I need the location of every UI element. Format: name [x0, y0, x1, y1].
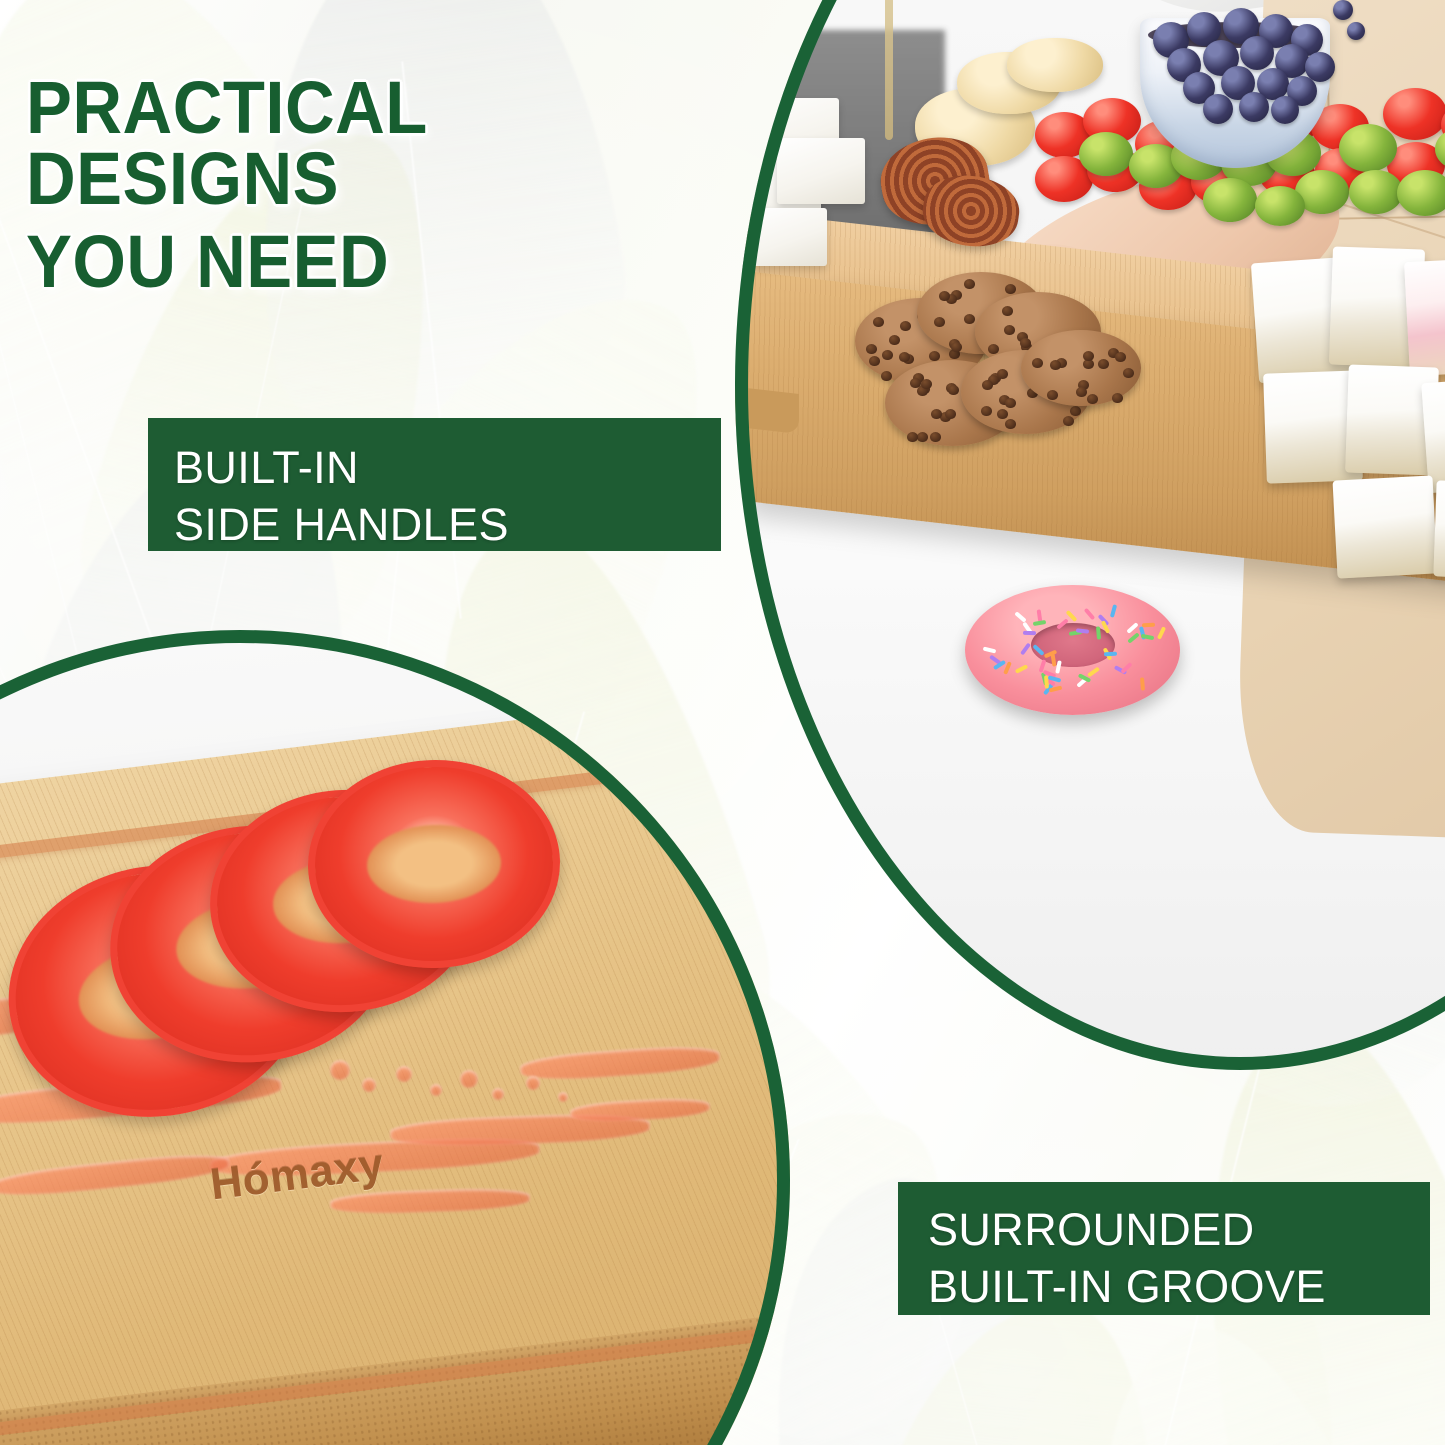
chocolate-chip [882, 350, 893, 360]
infographic-canvas: Hómaxy PRACTICAL DESIGNS YOU NEED BUILT-… [0, 0, 1445, 1445]
chocolate-chip [1112, 393, 1123, 403]
biscuit [1007, 38, 1103, 92]
gold-rail [885, 0, 893, 140]
chocolate-chip [982, 380, 993, 390]
juice-droplet [526, 1076, 540, 1090]
chocolate-chip [1004, 325, 1015, 335]
pink-donut [965, 585, 1180, 715]
sprinkle [1128, 632, 1141, 643]
chocolate-chip [866, 344, 877, 354]
photo-sliced-tomatoes: Hómaxy [0, 630, 790, 1445]
cake-bar [1333, 475, 1438, 578]
chocolate-chip [881, 371, 892, 381]
chocolate-chip [951, 342, 962, 352]
chocolate-chip [1020, 338, 1031, 348]
lime [1339, 124, 1397, 172]
chocolate-chip [1083, 351, 1094, 361]
chocolate-chip [1002, 306, 1013, 316]
chocolate-chip [964, 279, 975, 289]
chocolate-chip [1005, 284, 1016, 294]
chocolate-chip [1050, 360, 1061, 370]
sprinkle [1096, 626, 1101, 639]
juice-droplet [396, 1066, 412, 1082]
chocolate-chip [1005, 419, 1016, 429]
chocolate-chip [939, 291, 950, 301]
banner-handles-line-2: SIDE HANDLES [174, 497, 721, 554]
headline-line-1: PRACTICAL DESIGNS [26, 66, 427, 220]
chocolate-chip [934, 317, 945, 327]
chocolate-chip [907, 432, 918, 442]
sprinkle [1110, 605, 1117, 619]
sprinkle [1020, 643, 1031, 656]
chocolate-chip [929, 351, 940, 361]
sprinkle [1014, 611, 1026, 623]
chocolate-chip [1087, 394, 1098, 404]
blueberry [1333, 0, 1353, 20]
chocolate-chip [869, 356, 880, 366]
chocolate-chip [948, 385, 959, 395]
lime [1079, 132, 1133, 176]
chocolate-chip [931, 409, 942, 419]
blueberry [1203, 94, 1233, 124]
chocolate-chip [917, 432, 928, 442]
chocolate-chip [1123, 368, 1134, 378]
blueberry [1271, 96, 1299, 124]
chocolate-chip [921, 379, 932, 389]
juice-droplet [430, 1084, 442, 1096]
chocolate-chip [945, 409, 956, 419]
sprinkle [1076, 628, 1089, 633]
sprinkle [1032, 620, 1045, 626]
sprinkle [1055, 660, 1062, 674]
sprinkle [1084, 608, 1095, 620]
chocolate-chip [1115, 352, 1126, 362]
feature-banner-side-handles: BUILT-IN SIDE HANDLES [148, 418, 721, 551]
page-title: PRACTICAL DESIGNS YOU NEED [26, 72, 751, 297]
cherry-tomato [1383, 88, 1445, 140]
lime [1397, 170, 1445, 216]
chocolate-chip [981, 406, 992, 416]
chocolate-chip [1005, 398, 1016, 408]
blueberry [1239, 92, 1269, 122]
chocolate-chip [997, 409, 1008, 419]
feature-banner-groove: SURROUNDED BUILT-IN GROOVE [898, 1182, 1430, 1315]
chocolate-chip [964, 314, 975, 324]
photo-charcuterie-board [735, 0, 1445, 1070]
tomato-pulp [366, 823, 502, 905]
side-handle-notch [735, 386, 799, 434]
sprinkle [1142, 622, 1155, 627]
juice-droplet [492, 1088, 504, 1100]
chocolate-chip [988, 344, 999, 354]
sprinkle [1104, 651, 1117, 656]
juice-droplet [362, 1078, 376, 1092]
juice-droplet [330, 1060, 350, 1080]
chocolate-chip [1098, 359, 1109, 369]
blueberry [1347, 22, 1365, 40]
chocolate-chip [930, 432, 941, 442]
cheese-block [753, 208, 827, 266]
sprinkle [1015, 664, 1028, 674]
sprinkle [1140, 678, 1145, 691]
chocolate-chip [900, 321, 911, 331]
chocolate-chip [1047, 390, 1058, 400]
sprinkle [1157, 627, 1166, 640]
sprinkle [1023, 631, 1036, 635]
sprinkle [1087, 667, 1100, 678]
juice-droplet [460, 1070, 478, 1088]
chocolate-chip [873, 317, 884, 327]
chocolate-chip [889, 335, 900, 345]
chocolate-chip-cookie [1021, 330, 1141, 406]
sprinkle [983, 646, 997, 653]
lime [1255, 186, 1305, 226]
banner-groove-line-1: SURROUNDED [928, 1202, 1430, 1259]
chocolate-chip [910, 378, 921, 388]
chocolate-chip [1032, 358, 1043, 368]
chocolate-chip [1070, 406, 1081, 416]
kitchen-scene [735, 0, 1445, 1070]
banner-groove-line-2: BUILT-IN GROOVE [928, 1259, 1430, 1316]
juice-droplet [558, 1092, 568, 1102]
chocolate-chip [1076, 387, 1087, 397]
table-surface: Hómaxy [0, 630, 790, 1445]
banner-handles-line-1: BUILT-IN [174, 440, 721, 497]
cheese-block [777, 138, 865, 204]
blueberry [1240, 36, 1274, 70]
lime [1203, 178, 1257, 222]
lime [1349, 170, 1403, 214]
cake-bar [1404, 258, 1445, 376]
headline-line-2: YOU NEED [26, 226, 751, 297]
